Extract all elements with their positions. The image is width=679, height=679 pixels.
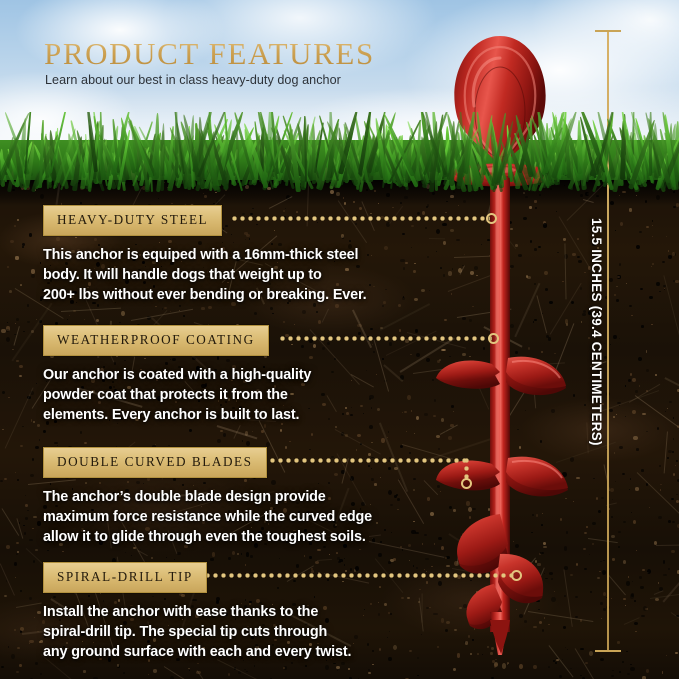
soil-speck (465, 562, 468, 564)
soil-speck (29, 233, 32, 236)
soil-speck (508, 499, 509, 500)
soil-speck (636, 245, 640, 249)
dimension-cap-top (595, 30, 621, 32)
soil-speck (482, 654, 484, 655)
soil-speck (625, 605, 626, 606)
soil-speck (615, 481, 616, 482)
soil-speck (534, 283, 536, 285)
soil-speck (634, 622, 638, 625)
soil-speck (643, 606, 647, 610)
soil-speck (573, 394, 575, 397)
soil-speck (489, 255, 491, 257)
soil-speck (676, 494, 678, 495)
soil-speck (539, 370, 541, 373)
soil-speck (629, 305, 632, 307)
soil-speck (166, 557, 167, 558)
soil-speck (457, 653, 461, 657)
soil-speck (270, 307, 273, 310)
soil-speck (636, 448, 640, 451)
soil-speck (551, 578, 553, 580)
soil-speck (639, 576, 642, 579)
soil-speck (515, 544, 519, 548)
soil-speck (626, 581, 630, 585)
soil-speck (487, 239, 490, 241)
soil-speck (8, 397, 10, 399)
soil-speck (669, 401, 671, 403)
soil-speck (567, 649, 568, 650)
soil-speck (584, 404, 586, 406)
soil-speck (531, 532, 533, 534)
soil-speck (666, 655, 668, 656)
soil-speck (20, 590, 22, 591)
soil-speck (369, 425, 373, 429)
soil-speck (22, 246, 24, 249)
soil-speck (67, 319, 68, 320)
soil-speck (509, 274, 510, 275)
soil-speck (483, 347, 485, 349)
soil-speck (589, 651, 593, 656)
soil-speck (19, 365, 23, 369)
feature-label-1: HEAVY-DUTY STEEL (57, 212, 208, 227)
soil-speck (590, 591, 592, 593)
soil-speck (519, 446, 521, 448)
soil-speck (510, 555, 513, 559)
soil-speck (43, 430, 46, 433)
soil-speck (517, 429, 519, 430)
soil-speck (317, 549, 321, 552)
soil-speck (542, 629, 544, 632)
soil-speck (560, 387, 563, 389)
soil-speck (572, 253, 576, 256)
soil-speck (576, 563, 579, 566)
soil-speck (597, 577, 601, 579)
soil-speck (174, 559, 175, 560)
soil-speck (325, 665, 329, 670)
soil-speck (660, 489, 661, 490)
soil-speck (16, 671, 19, 673)
soil-speck (662, 671, 664, 673)
soil-speck (533, 626, 536, 628)
soil-speck (556, 659, 558, 661)
soil-speck (35, 446, 39, 450)
soil-speck (646, 669, 649, 673)
soil-speck (148, 674, 149, 675)
soil-speck (673, 280, 675, 282)
soil-speck (542, 513, 543, 514)
soil-speck (254, 665, 255, 667)
soil-speck (625, 385, 627, 386)
soil-speck (585, 192, 588, 196)
soil-root-fiber (552, 323, 574, 378)
soil-speck (289, 441, 291, 442)
soil-speck (613, 416, 615, 418)
soil-root-fiber (565, 243, 567, 299)
soil-speck (527, 276, 531, 279)
soil-speck (534, 490, 535, 492)
soil-speck (612, 558, 615, 561)
soil-speck (155, 306, 157, 308)
soil-speck (668, 250, 670, 252)
soil-speck (189, 670, 191, 671)
soil-speck (183, 315, 185, 317)
soil-speck (179, 305, 181, 307)
soil-speck (4, 478, 7, 481)
soil-speck (35, 662, 38, 665)
soil-speck (673, 473, 675, 476)
soil-speck (476, 546, 479, 550)
soil-speck (640, 288, 643, 291)
soil-speck (631, 315, 633, 316)
soil-speck (208, 306, 212, 309)
soil-speck (480, 621, 482, 623)
soil-speck (640, 586, 644, 588)
soil-speck (459, 607, 462, 609)
soil-speck (311, 433, 313, 436)
soil-speck (671, 550, 675, 553)
soil-speck (1, 666, 4, 669)
soil-speck (636, 550, 637, 551)
soil-speck (584, 568, 587, 571)
soil-speck (19, 375, 22, 377)
soil-speck (537, 563, 540, 565)
soil-speck (485, 477, 488, 479)
soil-speck (666, 236, 667, 237)
feature-label-3: DOUBLE CURVED BLADES (57, 454, 253, 469)
soil-speck (638, 357, 642, 361)
soil-speck (514, 487, 517, 489)
soil-speck (37, 611, 41, 614)
soil-speck (665, 411, 666, 412)
soil-speck (445, 557, 447, 559)
soil-speck (228, 673, 230, 676)
soil-speck (633, 520, 636, 524)
soil-speck (27, 321, 29, 322)
soil-root-fiber (514, 282, 540, 337)
grass-blade (175, 112, 178, 177)
soil-speck (40, 194, 44, 199)
soil-speck (619, 338, 621, 339)
soil-speck (539, 621, 542, 624)
soil-speck (465, 641, 468, 644)
soil-speck (611, 675, 614, 677)
soil-speck (536, 514, 539, 516)
soil-speck (283, 321, 285, 323)
soil-speck (541, 552, 544, 554)
soil-speck (131, 555, 132, 556)
soil-speck (140, 549, 141, 550)
soil-speck (474, 628, 476, 630)
soil-speck (609, 409, 613, 412)
soil-speck (642, 569, 644, 571)
feature-body-1: This anchor is equiped with a 16mm-thick… (43, 245, 443, 305)
soil-root-fiber (656, 545, 679, 547)
soil-speck (8, 646, 10, 648)
soil-speck (228, 557, 230, 560)
soil-speck (388, 431, 389, 433)
soil-speck (36, 383, 37, 384)
soil-speck (393, 558, 395, 561)
soil-speck (659, 465, 661, 467)
soil-speck (37, 521, 40, 525)
soil-speck (27, 510, 29, 511)
soil-speck (442, 223, 446, 226)
soil-speck (557, 252, 559, 253)
soil-speck (500, 349, 502, 350)
soil-speck (582, 313, 586, 316)
soil-speck (604, 343, 605, 344)
soil-speck (503, 510, 505, 511)
soil-speck (520, 567, 523, 570)
soil-speck (664, 289, 665, 290)
soil-speck (84, 319, 85, 320)
soil-speck (577, 256, 580, 258)
soil-speck (555, 376, 556, 377)
soil-speck (153, 669, 157, 672)
soil-speck (663, 560, 666, 563)
soil-root-fiber (460, 265, 466, 275)
soil-speck (609, 508, 610, 510)
soil-speck (368, 669, 370, 671)
soil-speck (449, 383, 453, 386)
soil-speck (508, 664, 509, 665)
soil-speck (510, 324, 514, 328)
soil-speck (564, 185, 565, 186)
soil-root-fiber (14, 326, 20, 345)
soil-speck (616, 286, 617, 287)
soil-speck (480, 472, 481, 474)
soil-speck (526, 459, 528, 461)
soil-speck (555, 662, 557, 664)
feature-body-4: Install the anchor with ease thanks to t… (43, 602, 453, 662)
soil-speck (502, 459, 505, 462)
soil-speck (29, 539, 33, 542)
soil-speck (201, 307, 204, 310)
soil-speck (525, 410, 526, 411)
soil-speck (675, 652, 678, 655)
feature-label-2: WEATHERPROOF COATING (57, 332, 255, 347)
soil-root-fiber (506, 236, 517, 249)
soil-speck (414, 433, 415, 434)
soil-speck (662, 261, 665, 263)
soil-speck (651, 324, 652, 325)
soil-speck (630, 667, 634, 671)
leader-marker-4 (511, 570, 522, 581)
soil-speck (629, 208, 632, 211)
soil-speck (503, 283, 507, 287)
soil-speck (450, 229, 454, 232)
soil-speck (506, 492, 508, 495)
soil-speck (672, 521, 675, 523)
soil-speck (453, 668, 456, 671)
soil-speck (635, 631, 637, 632)
soil-speck (492, 597, 493, 599)
soil-speck (672, 451, 674, 453)
soil-root-fiber (216, 659, 279, 679)
soil-root-fiber (452, 568, 469, 572)
soil-speck (663, 574, 667, 577)
soil-speck (472, 639, 473, 640)
soil-speck (83, 670, 87, 672)
soil-speck (177, 552, 181, 556)
infographic-canvas: PRODUCT FEATURES Learn about our best in… (0, 0, 679, 679)
soil-root-fiber (0, 563, 16, 596)
soil-speck (348, 668, 350, 670)
soil-speck (498, 503, 501, 505)
soil-speck (2, 429, 4, 430)
soil-root-fiber (448, 268, 511, 293)
soil-speck (443, 274, 445, 276)
soil-speck (593, 478, 595, 480)
soil-speck (15, 256, 18, 259)
soil-speck (386, 193, 390, 197)
feature-block-2: WEATHERPROOF COATING Our anchor is coate… (43, 325, 443, 425)
soil-speck (622, 661, 624, 663)
soil-speck (500, 437, 503, 439)
soil-speck (509, 536, 510, 537)
soil-speck (602, 570, 606, 575)
soil-speck (490, 652, 492, 655)
soil-speck (545, 578, 547, 580)
soil-speck (490, 345, 493, 347)
soil-speck (516, 609, 517, 610)
soil-speck (658, 516, 662, 520)
soil-speck (619, 446, 622, 449)
soil-speck (538, 609, 540, 610)
soil-speck (614, 452, 616, 454)
soil-speck (470, 567, 474, 571)
soil-speck (523, 192, 525, 194)
soil-speck (318, 320, 321, 324)
soil-speck (619, 405, 620, 406)
soil-speck (675, 465, 676, 466)
soil-root-fiber (509, 384, 529, 416)
soil-speck (539, 582, 540, 583)
soil-speck (620, 222, 623, 226)
soil-speck (610, 344, 612, 346)
soil-speck (618, 546, 620, 548)
soil-speck (611, 516, 613, 518)
grass-blade (154, 113, 160, 179)
soil-speck (470, 580, 471, 581)
soil-root-fiber (470, 366, 490, 409)
soil-speck (496, 249, 498, 251)
soil-speck (676, 460, 679, 462)
soil-speck (189, 429, 192, 432)
soil-speck (592, 543, 594, 545)
soil-speck (673, 191, 674, 193)
soil-speck (504, 557, 505, 558)
soil-speck (660, 484, 662, 486)
soil-speck (378, 553, 382, 557)
soil-speck (667, 457, 669, 459)
feature-block-4: SPIRAL-DRILL TIP Install the anchor with… (43, 562, 453, 662)
soil-speck (497, 471, 499, 473)
soil-speck (515, 351, 518, 354)
soil-speck (603, 608, 606, 611)
soil-speck (600, 561, 601, 562)
soil-speck (20, 284, 23, 286)
soil-speck (671, 498, 674, 500)
soil-speck (302, 310, 306, 314)
soil-speck (560, 518, 562, 521)
soil-speck (15, 577, 16, 578)
soil-speck (515, 588, 519, 591)
soil-speck (504, 397, 507, 399)
soil-speck (529, 206, 531, 209)
soil-speck (472, 306, 474, 307)
soil-speck (635, 390, 637, 392)
dimension-label: 15.5 INCHES (39.4 CENTIMETERS) (589, 218, 604, 428)
soil-speck (629, 489, 630, 490)
soil-speck (578, 260, 582, 262)
soil-speck (612, 670, 614, 671)
soil-speck (616, 414, 617, 415)
soil-speck (603, 560, 604, 561)
soil-speck (530, 240, 532, 243)
soil-speck (544, 573, 545, 574)
soil-speck (25, 504, 28, 508)
soil-speck (548, 337, 551, 340)
soil-speck (487, 363, 490, 366)
soil-speck (676, 500, 679, 504)
soil-speck (40, 262, 41, 263)
soil-speck (37, 424, 40, 427)
soil-speck (627, 673, 630, 676)
soil-speck (444, 319, 447, 322)
soil-speck (476, 591, 478, 593)
soil-speck (553, 660, 555, 661)
soil-speck (609, 278, 613, 282)
soil-speck (623, 560, 626, 564)
feature-block-3: DOUBLE CURVED BLADES The anchor’s double… (43, 447, 473, 547)
soil-speck (575, 596, 578, 598)
soil-speck (469, 356, 470, 357)
soil-root-fiber (196, 670, 232, 679)
soil-speck (448, 271, 452, 275)
soil-speck (647, 569, 651, 574)
soil-speck (675, 280, 678, 283)
soil-root-fiber (317, 559, 332, 561)
soil-speck (474, 266, 478, 270)
soil-speck (583, 548, 586, 550)
soil-root-fiber (16, 603, 41, 608)
soil-root-fiber (663, 275, 679, 347)
soil-speck (549, 301, 553, 304)
soil-speck (466, 609, 468, 611)
soil-speck (62, 551, 64, 553)
soil-speck (635, 487, 639, 490)
soil-speck (673, 417, 674, 418)
soil-speck (121, 311, 125, 316)
soil-speck (494, 370, 498, 373)
soil-speck (642, 413, 645, 416)
soil-speck (584, 532, 587, 535)
soil-speck (246, 552, 250, 557)
soil-speck (536, 600, 539, 602)
soil-speck (232, 551, 236, 555)
soil-speck (469, 319, 472, 321)
soil-speck (477, 653, 479, 655)
soil-speck (272, 313, 274, 314)
soil-speck (203, 193, 204, 194)
soil-speck (487, 646, 489, 648)
soil-speck (656, 282, 660, 286)
soil-speck (54, 442, 57, 444)
soil-speck (503, 518, 507, 521)
soil-speck (497, 510, 501, 513)
soil-speck (534, 248, 537, 251)
soil-speck (482, 613, 484, 615)
